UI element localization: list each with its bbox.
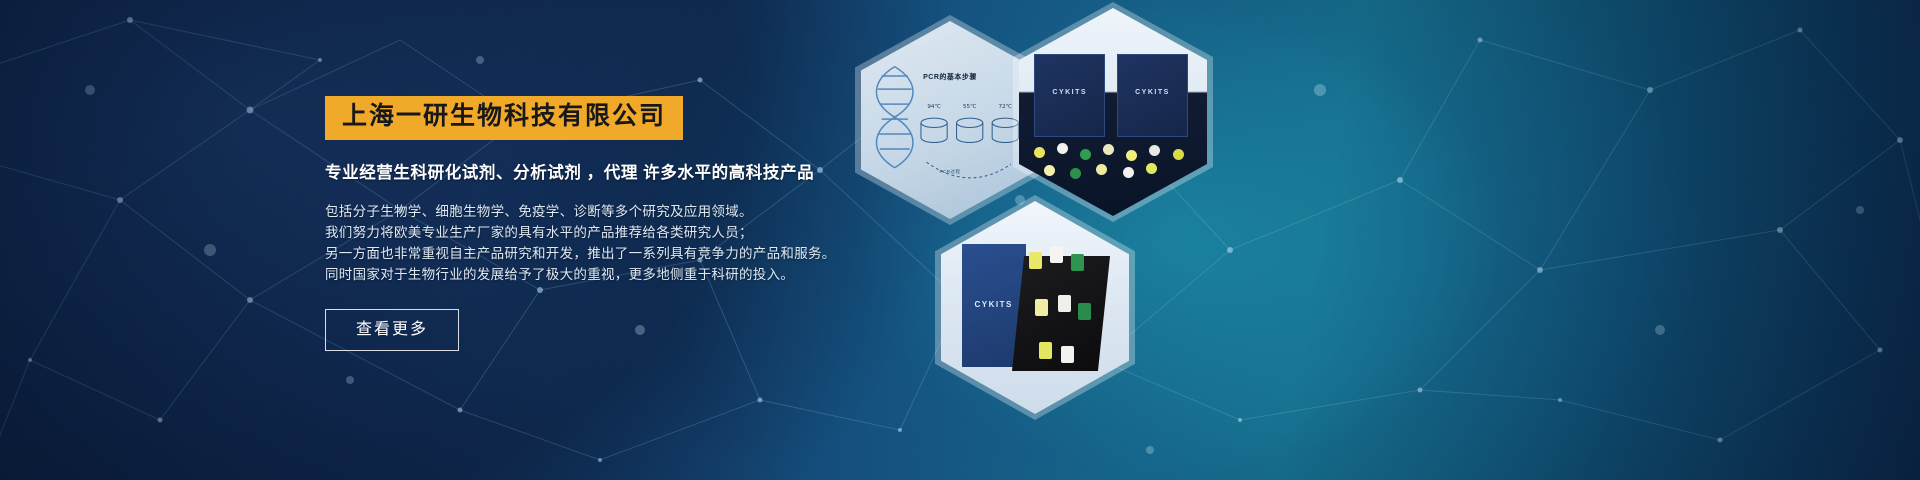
description-line-4: 同时国家对于生物行业的发展给予了极大的重视，更多地侧重于科研的投入。 bbox=[325, 264, 885, 285]
company-title-badge: 上海一研生物科技有限公司 bbox=[325, 96, 683, 140]
kit-manual-brand: CYKITS bbox=[962, 300, 1026, 309]
svg-text:55℃: 55℃ bbox=[963, 103, 976, 110]
svg-text:72℃: 72℃ bbox=[999, 103, 1012, 110]
hexagon-kit-with-tubes-inner: CYKITS bbox=[941, 201, 1129, 414]
kit-box-left-brand: CYKITS bbox=[1035, 89, 1104, 96]
hero-subtitle: 专业经营生科研化试剂、分析试剂 ，代理 许多水平的高科技产品 bbox=[325, 159, 885, 183]
hexagon-image-cluster: 94℃55℃72℃ PCR的基本步骤 PCR过程 CYKITS CYKITS bbox=[845, 0, 1265, 480]
description-line-3: 另一方面也非常重视自主产品研究和开发，推出了一系列具有竞争力的产品和服务。 bbox=[325, 243, 885, 264]
hero-description: 包括分子生物学、细胞生物学、免疫学、诊断等多个研究及应用领域。 我们努力将欧美专… bbox=[325, 201, 885, 285]
hexagon-kit-boxes-inner: CYKITS CYKITS bbox=[1019, 8, 1207, 216]
hexagon-pcr-inner: 94℃55℃72℃ PCR的基本步骤 PCR过程 bbox=[861, 21, 1039, 219]
hexagon-kit-boxes[interactable]: CYKITS CYKITS bbox=[1013, 2, 1213, 222]
description-line-2: 我们努力将欧美专业生产厂家的具有水平的产品推荐给各类研究人员； bbox=[325, 222, 885, 243]
description-line-1: 包括分子生物学、细胞生物学、免疫学、诊断等多个研究及应用领域。 bbox=[325, 201, 885, 222]
hexagon-kit-with-tubes[interactable]: CYKITS bbox=[935, 195, 1135, 420]
kit-box-right: CYKITS bbox=[1117, 54, 1188, 137]
view-more-button[interactable]: 查看更多 bbox=[325, 309, 459, 351]
kit-box-right-brand: CYKITS bbox=[1118, 89, 1187, 96]
hero-text-block: 上海一研生物科技有限公司 专业经营生科研化试剂、分析试剂 ，代理 许多水平的高科… bbox=[325, 96, 885, 351]
pcr-subcaption: PCR过程 bbox=[861, 169, 1039, 175]
hero-banner: 上海一研生物科技有限公司 专业经营生科研化试剂、分析试剂 ，代理 许多水平的高科… bbox=[0, 0, 1920, 480]
pcr-caption: PCR的基本步骤 bbox=[861, 72, 1039, 82]
kit-sample-dots bbox=[1030, 141, 1195, 195]
svg-text:94℃: 94℃ bbox=[927, 103, 940, 110]
kit-box-left: CYKITS bbox=[1034, 54, 1105, 137]
